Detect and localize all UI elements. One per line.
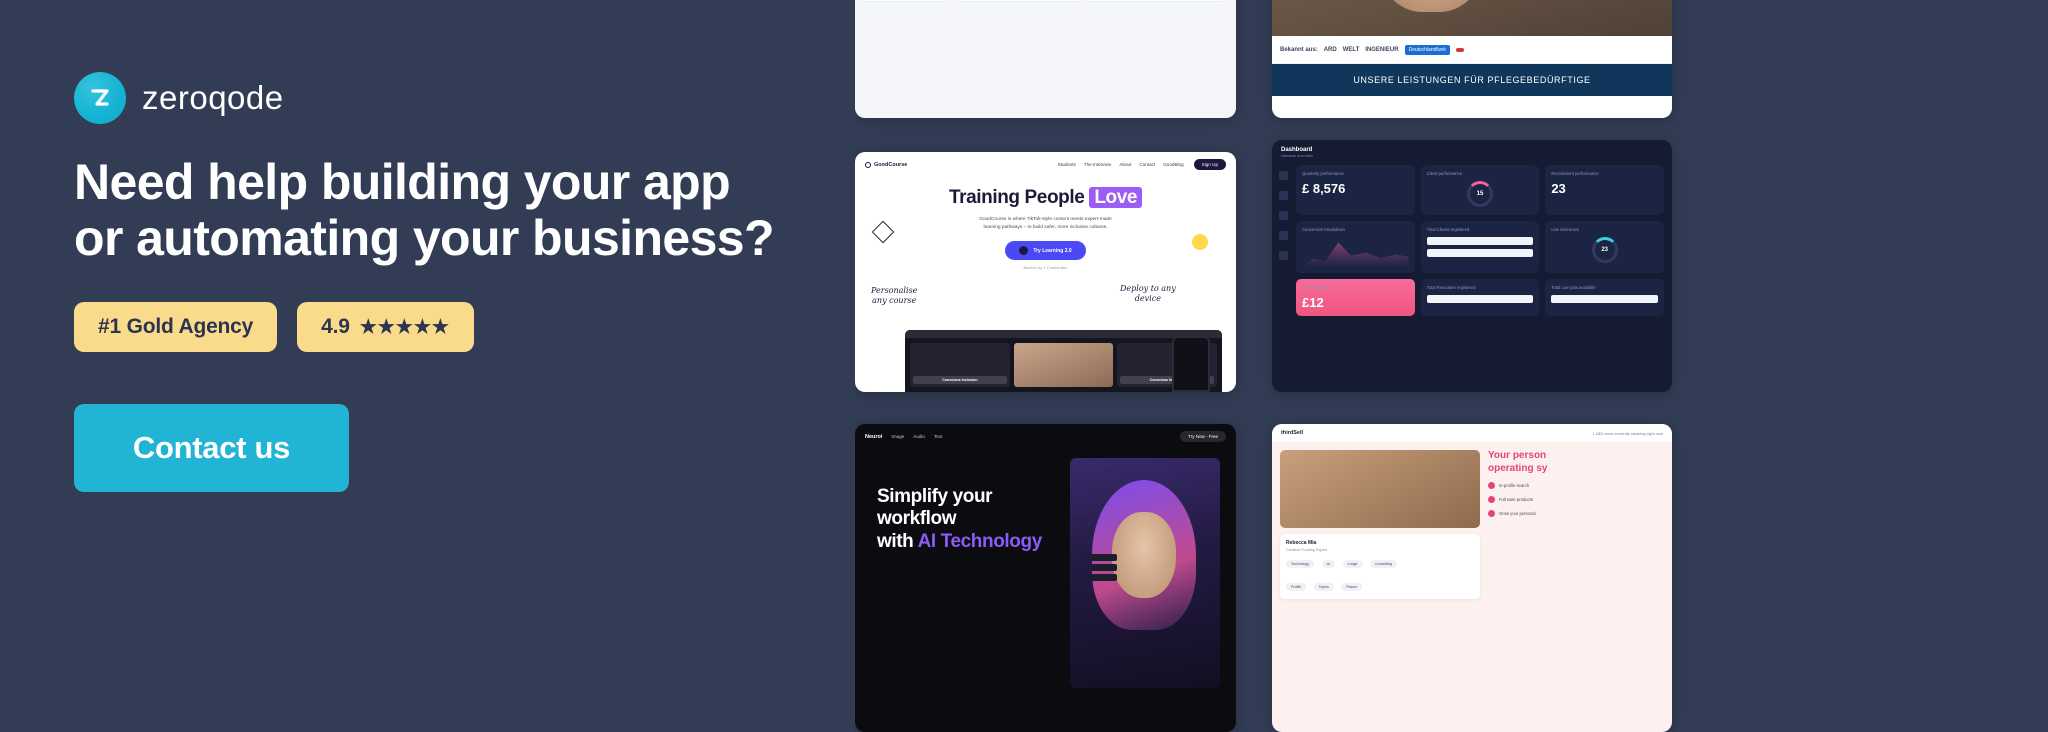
placeholder-bar — [1427, 249, 1534, 257]
feature-item: Grow your personal — [1488, 510, 1664, 517]
chip — [1091, 574, 1117, 581]
portfolio-tile-german-care[interactable]: Bekannt aus: ARD WELT INGENIEUR Deutschl… — [1272, 0, 1672, 118]
feature-item: In-profile search — [1488, 482, 1664, 489]
brand-name: zeroqode — [142, 79, 284, 117]
goodcourse-logo-text: GoodCourse — [874, 162, 907, 168]
course-card-photo — [1014, 343, 1114, 387]
try-now-button[interactable]: Try Now - Free — [1180, 431, 1226, 442]
heading-line-2: operating sy — [1488, 463, 1664, 476]
portfolio-tile-crypto-dashboard[interactable]: Matic $0.47 BTC $2.4 ETH $4.4 Directory — [855, 0, 1236, 118]
check-icon — [1488, 482, 1495, 489]
chip — [1091, 564, 1117, 571]
thirdsell-heading: Your person operating sy — [1488, 450, 1664, 475]
crypto-body: Matic $0.47 BTC $2.4 ETH $4.4 Directory — [855, 0, 1236, 8]
star-rating-icon: ★★★★★ — [360, 316, 450, 339]
thirdsell-topbar: thirdSell 1,283 users currently cleaning… — [1272, 424, 1672, 442]
press-logo-row: Bekannt aus: ARD WELT INGENIEUR Deutschl… — [1272, 36, 1672, 64]
nav-item[interactable]: Contact — [1139, 162, 1155, 167]
feature-label: Full suite products — [1499, 497, 1533, 502]
nav-item[interactable]: Text — [934, 434, 942, 439]
feature-label: In-profile search — [1499, 483, 1529, 488]
page-title: Need help building your app or automatin… — [74, 154, 834, 266]
press-logo-accent — [1456, 48, 1464, 52]
status-badge-gold-agency: #1 Gold Agency — [74, 302, 277, 352]
profile-card: Rebecca Mia Creative Funding Expert Tech… — [1280, 534, 1480, 599]
heading-line-1: Your person — [1488, 450, 1664, 463]
dashboard-main: Quarterly performance £ 8,576 Client per… — [1272, 165, 1672, 324]
gear-icon[interactable] — [1279, 251, 1288, 260]
card-title: Client performance — [1427, 171, 1534, 176]
dashboard-card: Conversion breakdown — [1296, 221, 1415, 273]
hero-page: zeroqode Need help building your app or … — [0, 0, 2048, 732]
avatar — [1192, 234, 1208, 250]
card-ring-gauge: 23 — [1592, 237, 1618, 263]
dashboard-card: Quarterly performance £ 8,576 — [1296, 165, 1415, 215]
thirdsell-right-col: Your person operating sy In-profile sear… — [1488, 450, 1664, 599]
crypto-news-column: Top crypto news How to trade Top 5 Fast … — [1087, 0, 1224, 2]
crypto-coin-column: Matic $0.47 BTC $2.4 ETH $4.4 Directory — [861, 0, 947, 2]
profile-tag: Lodge — [1343, 560, 1363, 568]
try-learning-label: Try Learning 2.0 — [1033, 248, 1071, 254]
card-value: 23 — [1551, 181, 1658, 196]
card-title: Total Live jobs available — [1551, 285, 1658, 290]
dashboard-card-grid: Quarterly performance £ 8,576 Client per… — [1294, 165, 1672, 324]
dashboard-card: Recruitment performance 23 — [1545, 165, 1664, 215]
nav-item[interactable]: Students — [1058, 162, 1076, 167]
heading-line-3: with AI Technology — [877, 531, 1042, 553]
card-ring-gauge: 15 — [1467, 181, 1493, 207]
grid-icon[interactable] — [1279, 191, 1288, 200]
profile-tab[interactable]: Topics — [1314, 583, 1334, 591]
backed-by-label: Backed by Y Combinator — [855, 265, 1236, 270]
feature-item: Full suite products — [1488, 496, 1664, 503]
heading-line-3-plain: with — [877, 531, 918, 552]
press-label: Bekannt aus: — [1280, 47, 1318, 53]
portfolio-tile-thirdsell[interactable]: thirdSell 1,283 users currently cleaning… — [1272, 424, 1672, 732]
thirdsell-logo[interactable]: thirdSell — [1281, 430, 1303, 436]
card-title: Total Clients registered — [1427, 227, 1534, 232]
profile-tag: AI — [1322, 560, 1335, 568]
profile-meta: Creative Funding Expert — [1286, 548, 1474, 552]
phone-mockup — [1172, 336, 1210, 392]
nav-item[interactable]: The Interview — [1084, 162, 1112, 167]
contact-us-button[interactable]: Contact us — [74, 404, 349, 492]
chip — [1091, 554, 1117, 561]
profile-tab[interactable]: Profile — [1286, 583, 1306, 591]
desk-photo — [1280, 450, 1480, 528]
status-badge-rating: 4.9 ★★★★★ — [297, 302, 474, 352]
live-user-count: 1,283 users currently cleaning right now — [1592, 431, 1663, 436]
goodcourse-heading: Training People Love — [855, 187, 1236, 209]
annotation-personalise: Personalise any course — [871, 286, 917, 305]
course-card: Conscious Inclusion — [910, 343, 1010, 387]
annotation-line-1: Deploy to any — [1120, 284, 1176, 294]
brand-logo[interactable]: zeroqode — [74, 72, 855, 124]
portfolio-tile-goodcourse[interactable]: GoodCourse Students The Interview About … — [855, 152, 1236, 392]
care-services-strip: UNSERE LEISTUNGEN FÜR PFLEGEBEDÜRFTIGE — [1272, 64, 1672, 96]
rating-value: 4.9 — [321, 315, 350, 339]
nav-item[interactable]: GoodBlog — [1163, 162, 1183, 167]
heading-line-3-accent: AI Technology — [918, 531, 1042, 552]
neuroi-chip-stack — [1091, 554, 1117, 581]
annotation-line-2: device — [1120, 294, 1176, 304]
goodcourse-logo[interactable]: GoodCourse — [865, 162, 907, 168]
headline-line-1: Need help building your app — [74, 154, 730, 210]
profile-tab[interactable]: Places — [1341, 583, 1362, 591]
crypto-center-column: Coinbase wallet investigation Monetized … — [953, 0, 1081, 2]
star-icon[interactable] — [1279, 211, 1288, 220]
portrait-face — [1112, 512, 1176, 598]
dashboard-sidebar — [1272, 165, 1294, 324]
goodcourse-nav-links: Students The Interview About Contact Goo… — [1058, 162, 1184, 167]
sign-up-button[interactable]: Sign Up — [1194, 159, 1226, 170]
heading-line-2: workflow — [877, 508, 1042, 530]
goodcourse-subtitle: GoodCourse is where TikTok-style content… — [855, 216, 1236, 232]
neuroi-navbar: Neuroi Image Audio Text Try Now - Free — [855, 424, 1236, 449]
press-logo: ARD — [1324, 47, 1337, 53]
profile-tag: Consulting — [1370, 560, 1397, 568]
thirdsell-body: Rebecca Mia Creative Funding Expert Tech… — [1272, 442, 1672, 607]
sparkline-chart — [1302, 237, 1409, 267]
card-value: £ 8,576 — [1302, 181, 1409, 196]
card-title: Harness hours — [1302, 285, 1409, 290]
care-hero-photo — [1272, 0, 1672, 36]
card-title: Live interviews — [1551, 227, 1658, 232]
badge-row: #1 Gold Agency 4.9 ★★★★★ — [74, 302, 855, 352]
dashboard-card: Total Clients registered — [1421, 221, 1540, 273]
nav-item[interactable]: Audio — [913, 434, 925, 439]
circle-icon — [865, 162, 871, 168]
press-logo: INGENIEUR — [1365, 47, 1398, 53]
dashboard-card: Live interviews 23 — [1545, 221, 1664, 273]
try-learning-button[interactable]: Try Learning 2.0 — [1005, 241, 1085, 260]
dashboard-card-highlight: Harness hours £12 — [1296, 279, 1415, 316]
press-logo: WELT — [1343, 47, 1360, 53]
crown-icon — [1019, 246, 1028, 255]
zeroqode-mark-icon — [74, 72, 126, 124]
dashboard-card: Client performance 15 — [1421, 165, 1540, 215]
heading-plain: Training People — [949, 187, 1084, 208]
card-title: Total Recruiters registered — [1427, 285, 1534, 290]
dashboard-header: Dashboard Harness overview — [1272, 140, 1672, 165]
portfolio-tile-recruitment-dashboard[interactable]: Dashboard Harness overview Quarterly per… — [1272, 140, 1672, 392]
profile-tag: Technology — [1286, 560, 1314, 568]
card-title: Conversion breakdown — [1302, 227, 1409, 232]
chart-icon[interactable] — [1279, 231, 1288, 240]
annotation-line-2: any course — [871, 296, 917, 306]
hero-section: zeroqode Need help building your app or … — [0, 0, 855, 732]
subtitle-line-1: GoodCourse is where TikTok-style content… — [855, 216, 1236, 224]
goodcourse-navbar: GoodCourse Students The Interview About … — [855, 152, 1236, 177]
annotation-deploy: Deploy to any device — [1120, 284, 1176, 303]
home-icon[interactable] — [1279, 171, 1288, 180]
placeholder-bar — [1551, 295, 1658, 303]
feature-label: Grow your personal — [1499, 511, 1536, 516]
portfolio-tile-neuroi[interactable]: Neuroi Image Audio Text Try Now - Free S… — [855, 424, 1236, 732]
subtitle-line-2: learning pathways – to build safer, more… — [855, 224, 1236, 232]
card-value: £12 — [1302, 295, 1409, 310]
headline-line-2: or automating your business? — [74, 210, 834, 266]
goodcourse-hero: Training People Love GoodCourse is where… — [855, 187, 1236, 270]
check-icon — [1488, 496, 1495, 503]
gold-agency-label: #1 Gold Agency — [98, 315, 253, 339]
card-title: Recruitment performance — [1551, 171, 1658, 176]
course-card-caption: Conscious Inclusion — [913, 376, 1007, 384]
profile-name: Rebecca Mia — [1286, 540, 1474, 546]
annotation-line-1: Personalise — [871, 286, 917, 296]
placeholder-bar — [1427, 295, 1534, 303]
neuroi-heading: Simplify your workflow with AI Technolog… — [877, 486, 1042, 553]
portfolio-gallery: Matic $0.47 BTC $2.4 ETH $4.4 Directory — [855, 0, 2048, 732]
nav-item[interactable]: About — [1119, 162, 1131, 167]
person-photo — [1376, 0, 1486, 12]
thirdsell-left-col: Rebecca Mia Creative Funding Expert Tech… — [1280, 450, 1480, 599]
card-title: Quarterly performance — [1302, 171, 1409, 176]
nav-item[interactable]: Image — [891, 434, 904, 439]
placeholder-bar — [1427, 237, 1534, 245]
check-icon — [1488, 510, 1495, 517]
heading-highlight: Love — [1089, 187, 1142, 208]
heading-line-1: Simplify your — [877, 486, 1042, 508]
dashboard-card: Total Recruiters registered — [1421, 279, 1540, 316]
press-logo: Deutschlandfunk — [1405, 45, 1450, 55]
neuroi-logo[interactable]: Neuroi — [865, 434, 882, 440]
dashboard-subtitle: Harness overview — [1281, 153, 1313, 158]
dashboard-card: Total Live jobs available — [1545, 279, 1664, 316]
